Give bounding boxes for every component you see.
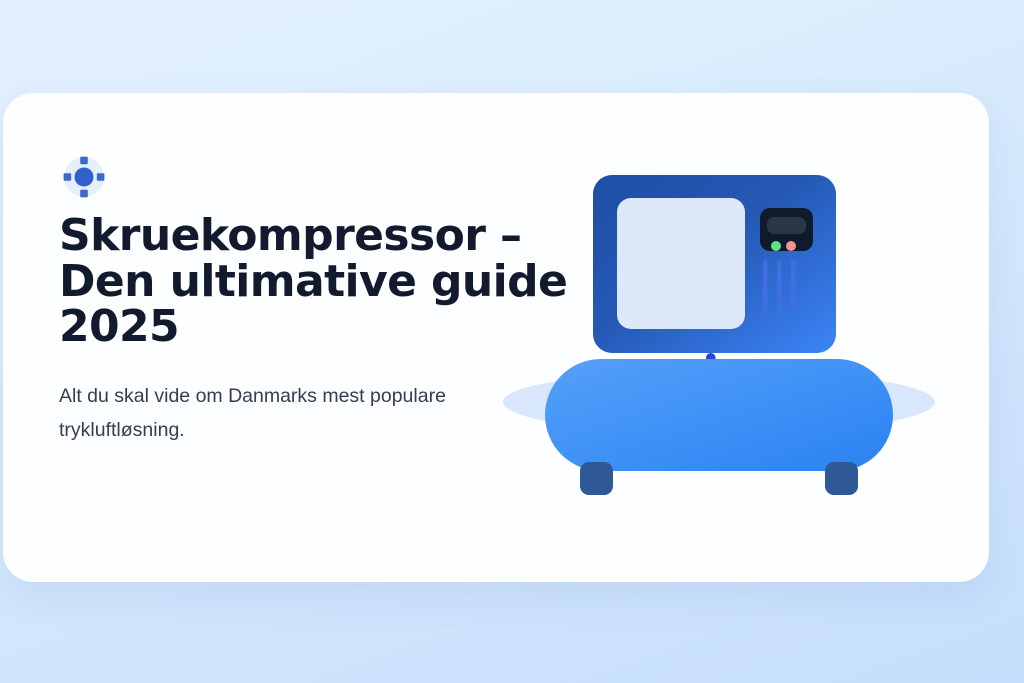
compressor-hub-logo-icon (60, 153, 108, 201)
screw-compressor-illustration (495, 159, 943, 539)
hero-card: Skruekompressor – Den ultimative guide 2… (3, 93, 989, 582)
compressor-leg (580, 462, 613, 495)
compressor-display-screen (617, 198, 745, 329)
status-led-red (786, 241, 796, 251)
status-led-green (771, 241, 781, 251)
hero-subtitle: Alt du skal vide om Danmarks mest popula… (59, 379, 549, 448)
compressor-leg (825, 462, 858, 495)
control-panel-slot (767, 217, 806, 234)
hero-banner: Skruekompressor – Den ultimative guide 2… (0, 0, 1024, 683)
compressor-air-tank (545, 359, 893, 471)
